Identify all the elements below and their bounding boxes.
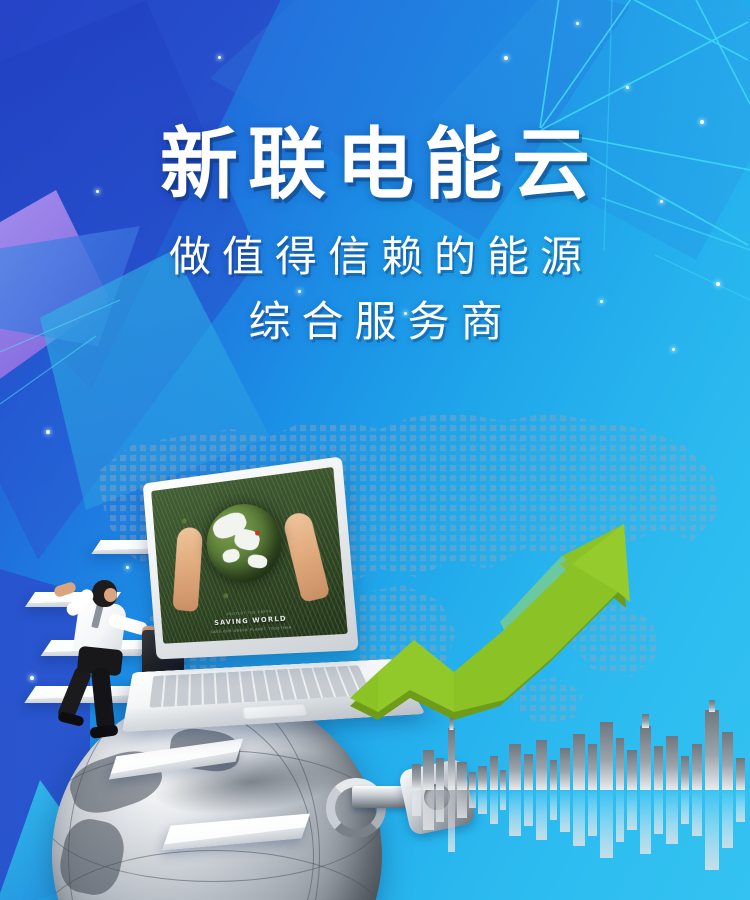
laptop-trackpad [242,703,309,720]
shoe-front [89,724,118,739]
city-skyline [410,700,750,900]
forearm-raised [53,581,77,598]
page-title: 新联电能云 [10,126,750,204]
promotional-banner: 新联电能云 做值得信赖的能源 综合服务商 [0,0,750,900]
leg-front [91,667,115,731]
shoe-back [57,711,85,727]
face [104,588,117,602]
subtitle-line-1: 做值得信赖的能源 [12,226,750,287]
laptop-keyboard [149,665,371,707]
laptop-lid: PROTECT THE EARTH SAVING WORLD SAVE OUR … [143,456,359,659]
headline-block: 新联电能云 做值得信赖的能源 综合服务商 [0,126,750,353]
subtitle-line-2: 综合服务商 [12,291,750,352]
laptop-screen: PROTECT THE EARTH SAVING WORLD SAVE OUR … [151,467,348,644]
